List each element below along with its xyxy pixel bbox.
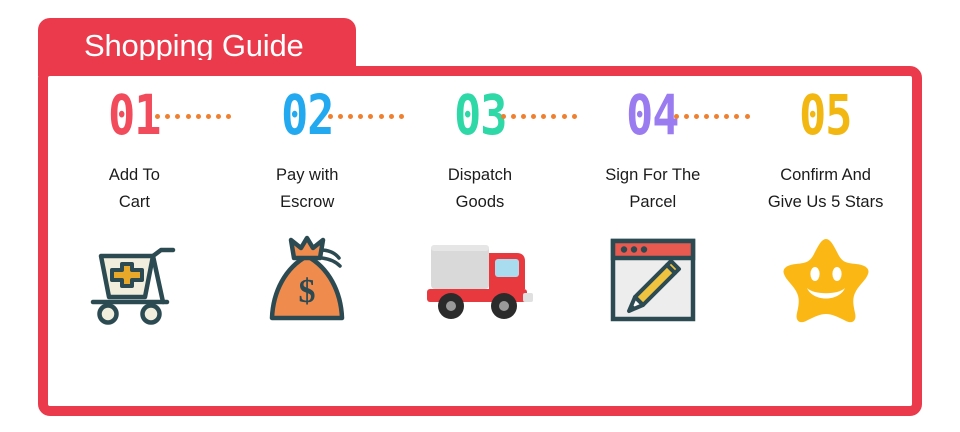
step-icon-wrap: $ xyxy=(221,230,394,330)
step-item-4: 04 Sign For The Parcel xyxy=(566,76,739,406)
step-label: Add To Cart xyxy=(48,162,221,218)
step-icon-wrap xyxy=(394,230,567,330)
step-label-line2: Escrow xyxy=(280,193,334,211)
step-icon-wrap xyxy=(566,230,739,330)
step-number-row: 05 xyxy=(739,76,912,154)
step-number: 03 xyxy=(454,87,506,142)
step-icon-wrap xyxy=(739,230,912,330)
step-label-line1: Confirm And xyxy=(780,166,871,184)
step-number: 04 xyxy=(627,87,679,142)
step-label: Dispatch Goods xyxy=(394,162,567,218)
step-item-1: 01 Add To Cart xyxy=(48,76,221,406)
step-icon-wrap xyxy=(48,230,221,330)
svg-text:$: $ xyxy=(299,273,316,310)
step-label: Pay with Escrow xyxy=(221,162,394,218)
step-item-2: 02 Pay with Escrow $ xyxy=(221,76,394,406)
step-number-row: 03 xyxy=(394,76,567,154)
step-number-row: 04 xyxy=(566,76,739,154)
shopping-cart-icon xyxy=(85,234,183,326)
tab-join-patch xyxy=(38,60,356,76)
step-number: 05 xyxy=(799,87,851,142)
step-number: 02 xyxy=(281,87,333,142)
step-label: Confirm And Give Us 5 Stars xyxy=(739,162,912,218)
step-label-line1: Dispatch xyxy=(448,166,512,184)
step-label-line2: Parcel xyxy=(629,193,676,211)
step-number: 01 xyxy=(108,87,160,142)
step-number-row: 01 xyxy=(48,76,221,154)
step-label: Sign For The Parcel xyxy=(566,162,739,218)
smiling-star-icon xyxy=(780,236,872,324)
connector-dots xyxy=(674,114,750,119)
step-label-line2: Goods xyxy=(456,193,505,211)
step-label-line1: Sign For The xyxy=(605,166,700,184)
connector-dots xyxy=(328,114,404,119)
step-item-5: 05 Confirm And Give Us 5 Stars xyxy=(739,76,912,406)
delivery-truck-icon xyxy=(425,237,535,323)
connector-dots xyxy=(155,114,231,119)
step-label-line1: Pay with xyxy=(276,166,338,184)
shopping-guide-banner: Shopping Guide 01 Add To Cart xyxy=(0,0,960,432)
step-number-row: 02 xyxy=(221,76,394,154)
browser-pencil-icon xyxy=(609,237,697,323)
step-label-line2: Give Us 5 Stars xyxy=(768,193,884,211)
connector-dots xyxy=(501,114,577,119)
step-item-3: 03 Dispatch Goods xyxy=(394,76,567,406)
money-bag-icon: $ xyxy=(263,234,351,326)
steps-container: 01 Add To Cart xyxy=(48,76,912,406)
step-label-line1: Add To xyxy=(109,166,160,184)
step-label-line2: Cart xyxy=(119,193,150,211)
